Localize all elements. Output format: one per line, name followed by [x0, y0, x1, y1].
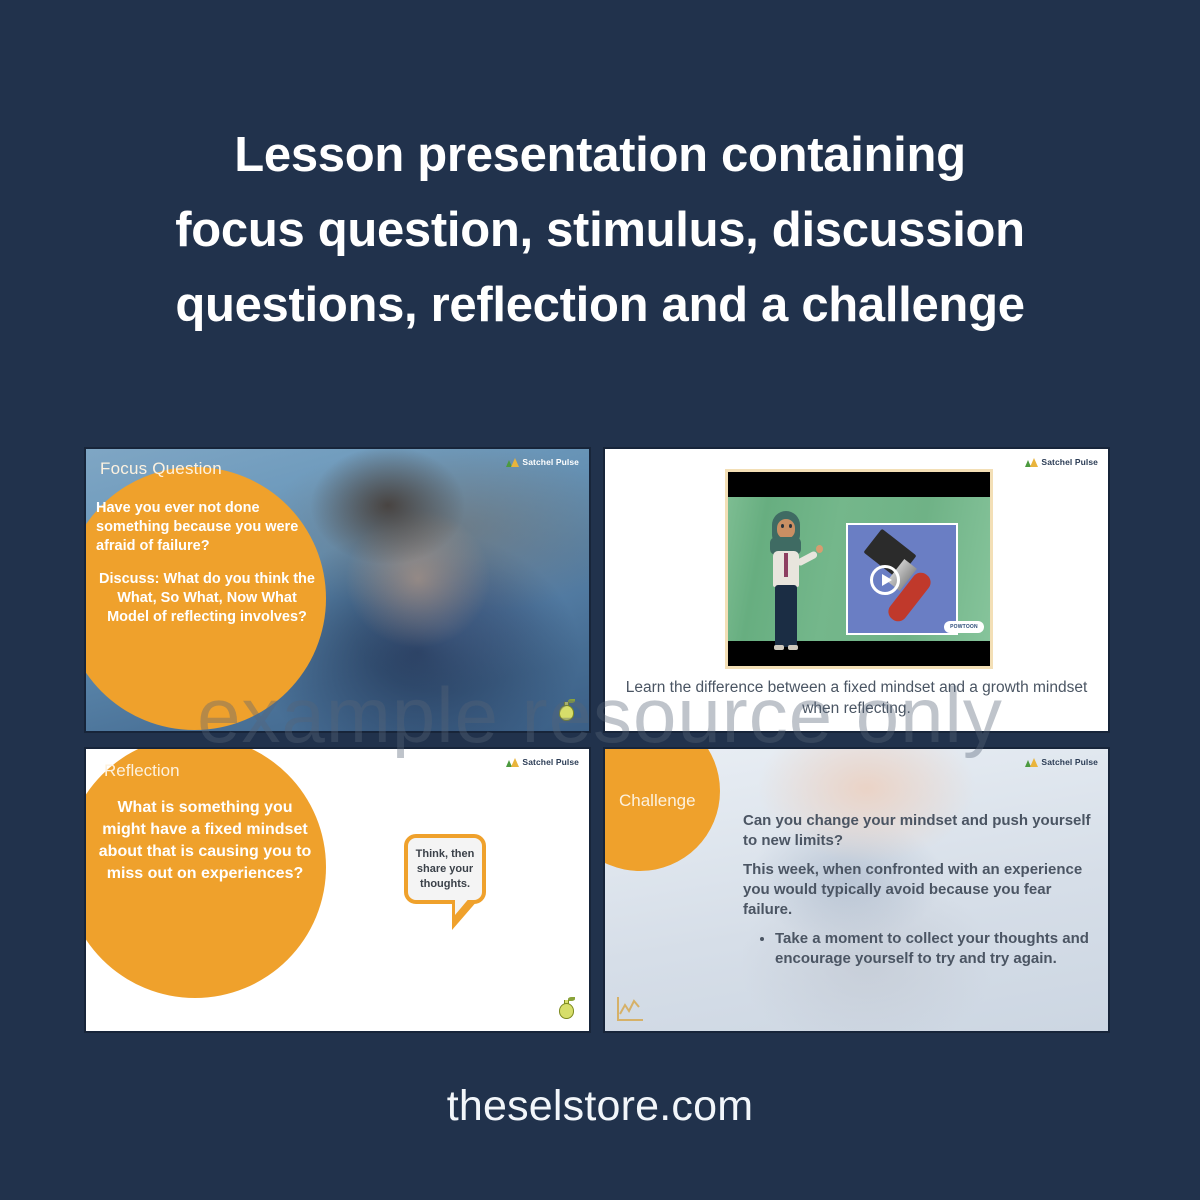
page-title: Lesson presentation containing focus que… — [0, 118, 1200, 343]
speech-bubble-tail — [452, 900, 478, 930]
satchel-pulse-logo: Satchel Pulse — [506, 757, 579, 767]
video-caption: Learn the difference between a fixed min… — [613, 677, 1100, 719]
slide-stimulus-video[interactable]: POWTOON Learn the difference between a f… — [604, 448, 1109, 732]
poster-canvas: Lesson presentation containing focus que… — [0, 0, 1200, 1200]
slide-focus-question[interactable]: Focus Question Have you ever not done so… — [85, 448, 590, 732]
satchel-pulse-logo: Satchel Pulse — [1025, 457, 1098, 467]
focus-question-text: Have you ever not done something because… — [96, 499, 318, 556]
page-title-line-2: focus question, stimulus, discussion — [0, 193, 1200, 268]
presenter-illustration — [766, 511, 806, 651]
video-letterbox: POWTOON — [728, 472, 990, 666]
pear-icon — [558, 699, 575, 721]
brand-name: Satchel Pulse — [522, 757, 579, 767]
challenge-instruction-text: This week, when confronted with an exper… — [743, 860, 1098, 920]
line-chart-icon — [617, 997, 643, 1021]
page-title-line-3: questions, reflection and a challenge — [0, 268, 1200, 343]
slide-challenge[interactable]: Challenge Can you change your mindset an… — [604, 748, 1109, 1032]
pear-icon — [558, 997, 575, 1019]
slide-body: Can you change your mindset and push you… — [743, 811, 1098, 969]
mountain-peaks-icon — [506, 758, 519, 767]
play-button-icon[interactable] — [870, 565, 900, 595]
speech-bubble-text: Think, then share your thoughts. — [408, 847, 482, 892]
video-player[interactable]: POWTOON — [725, 469, 993, 669]
page-title-line-1: Lesson presentation containing — [0, 118, 1200, 193]
focus-discuss-text: Discuss: What do you think the What, So … — [96, 570, 318, 627]
slide-kicker: Focus Question — [100, 459, 222, 479]
slide-body: Have you ever not done something because… — [96, 499, 318, 627]
brand-name: Satchel Pulse — [1041, 757, 1098, 767]
mountain-peaks-icon — [1025, 458, 1038, 467]
slide-kicker: Challenge — [619, 791, 696, 811]
site-url: theselstore.com — [0, 1082, 1200, 1131]
mountain-peaks-icon — [1025, 758, 1038, 767]
challenge-bullet-item: Take a moment to collect your thoughts a… — [775, 929, 1098, 969]
powtoon-watermark: POWTOON — [944, 621, 984, 633]
slide-grid: Focus Question Have you ever not done so… — [85, 448, 1114, 1036]
video-frame: POWTOON — [728, 497, 990, 641]
speech-bubble: Think, then share your thoughts. — [404, 834, 486, 904]
brand-name: Satchel Pulse — [1041, 457, 1098, 467]
reflection-question-text: What is something you might have a fixed… — [94, 797, 316, 885]
mountain-peaks-icon — [506, 458, 519, 467]
satchel-pulse-logo: Satchel Pulse — [506, 457, 579, 467]
slide-kicker: Reflection — [104, 761, 180, 781]
brand-name: Satchel Pulse — [522, 457, 579, 467]
satchel-pulse-logo: Satchel Pulse — [1025, 757, 1098, 767]
challenge-question-text: Can you change your mindset and push you… — [743, 811, 1098, 851]
video-thumbnail-panel — [846, 523, 958, 635]
challenge-bullet-list: Take a moment to collect your thoughts a… — [763, 929, 1098, 969]
slide-reflection[interactable]: Reflection What is something you might h… — [85, 748, 590, 1032]
